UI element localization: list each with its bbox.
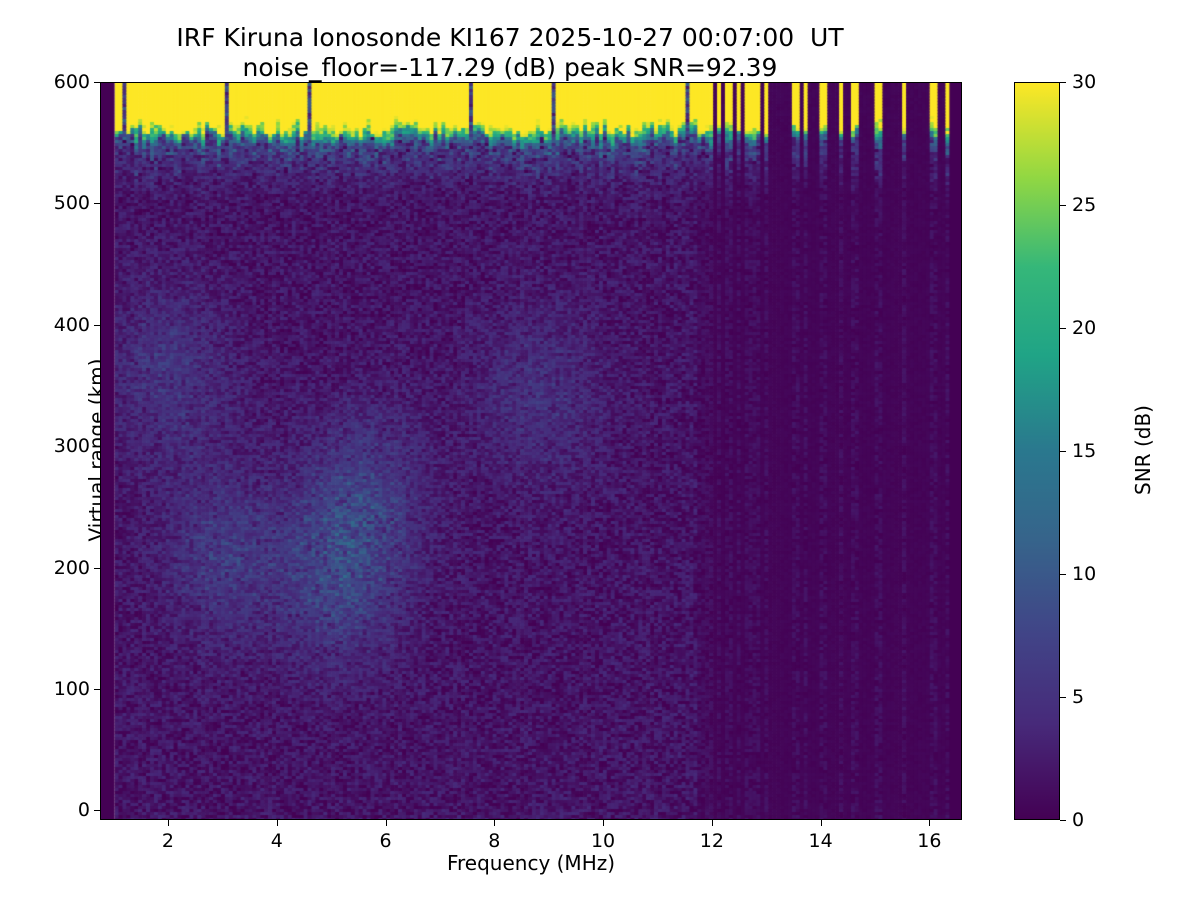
y-tick-mark bbox=[94, 689, 100, 690]
colorbar-tick-label: 25 bbox=[1072, 194, 1096, 216]
colorbar-tick-label: 20 bbox=[1072, 317, 1096, 339]
y-tick-label: 600 bbox=[54, 71, 90, 93]
x-tick-mark bbox=[494, 820, 495, 826]
ionogram-heatmap bbox=[101, 83, 961, 819]
colorbar-tick-mark bbox=[1060, 697, 1066, 698]
colorbar-tick-mark bbox=[1060, 574, 1066, 575]
figure-title-line-1: IRF Kiruna Ionosonde KI167 2025-10-27 00… bbox=[0, 22, 1020, 53]
x-tick-mark bbox=[821, 820, 822, 826]
y-tick-mark bbox=[94, 810, 100, 811]
colorbar-label: SNR (dB) bbox=[1131, 405, 1155, 495]
ionogram-figure: IRF Kiruna Ionosonde KI167 2025-10-27 00… bbox=[0, 0, 1200, 900]
colorbar-tick-label: 5 bbox=[1072, 686, 1084, 708]
y-tick-mark bbox=[94, 203, 100, 204]
x-tick-label: 14 bbox=[809, 830, 833, 852]
colorbar-gradient bbox=[1015, 83, 1059, 819]
colorbar-tick-label: 15 bbox=[1072, 440, 1096, 462]
x-tick-mark bbox=[929, 820, 930, 826]
x-tick-label: 2 bbox=[162, 830, 174, 852]
x-tick-label: 6 bbox=[379, 830, 391, 852]
colorbar-tick-mark bbox=[1060, 451, 1066, 452]
heatmap-canvas bbox=[101, 83, 961, 819]
colorbar-tick-label: 0 bbox=[1072, 809, 1084, 831]
colorbar-tick-label: 10 bbox=[1072, 563, 1096, 585]
colorbar-tick-mark bbox=[1060, 205, 1066, 206]
heatmap-plot-area bbox=[100, 82, 962, 820]
colorbar-tick-mark bbox=[1060, 328, 1066, 329]
x-tick-mark bbox=[386, 820, 387, 826]
x-tick-label: 16 bbox=[917, 830, 941, 852]
x-tick-label: 8 bbox=[488, 830, 500, 852]
colorbar-tick-label: 30 bbox=[1072, 71, 1096, 93]
x-tick-label: 12 bbox=[700, 830, 724, 852]
y-tick-label: 200 bbox=[54, 557, 90, 579]
figure-title-line-2: noise_floor=-117.29 (dB) peak SNR=92.39 bbox=[0, 52, 1020, 83]
colorbar-tick-mark bbox=[1060, 820, 1066, 821]
x-tick-mark bbox=[603, 820, 604, 826]
y-tick-label: 0 bbox=[78, 799, 90, 821]
y-tick-label: 500 bbox=[54, 192, 90, 214]
x-tick-label: 4 bbox=[271, 830, 283, 852]
y-tick-mark bbox=[94, 568, 100, 569]
x-tick-mark bbox=[712, 820, 713, 826]
colorbar bbox=[1014, 82, 1060, 820]
y-tick-label: 300 bbox=[54, 435, 90, 457]
colorbar-tick-mark bbox=[1060, 82, 1066, 83]
y-tick-mark bbox=[94, 325, 100, 326]
x-axis-label: Frequency (MHz) bbox=[100, 851, 962, 875]
x-tick-mark bbox=[277, 820, 278, 826]
y-tick-label: 100 bbox=[54, 678, 90, 700]
x-tick-label: 10 bbox=[591, 830, 615, 852]
x-tick-mark bbox=[168, 820, 169, 826]
y-tick-mark bbox=[94, 446, 100, 447]
y-tick-mark bbox=[94, 82, 100, 83]
y-tick-label: 400 bbox=[54, 314, 90, 336]
